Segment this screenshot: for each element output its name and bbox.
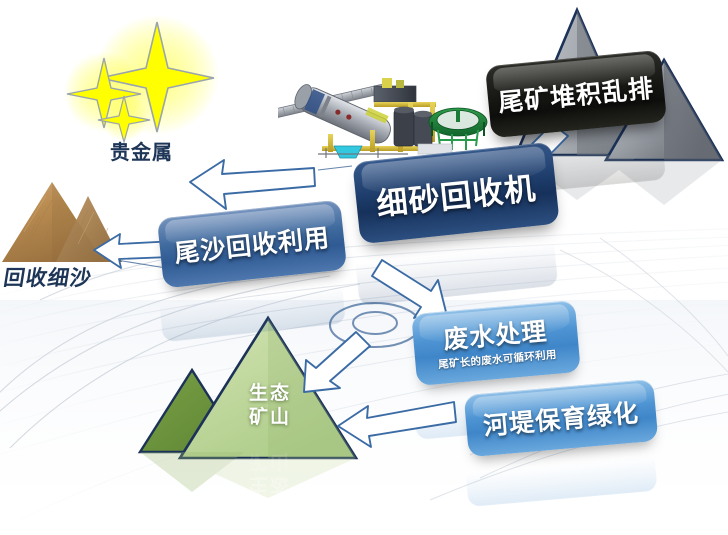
label-waste-water-treatment[interactable]: 废水处理 尾矿长的废水可循环利用 (411, 300, 581, 386)
eco-mountain-line2: 矿山 (228, 406, 312, 430)
label-tailings-dump-text: 尾矿堆积乱排 (497, 69, 656, 120)
label-levee-greening-text: 河堤保育绿化 (482, 393, 641, 442)
eco-mountain-label-reflection: 生态 矿山 (228, 449, 312, 497)
eco-mountain-line1-reflection: 生态 (228, 473, 312, 497)
label-tailings-reuse-text: 尾沙回收利用 (173, 218, 332, 270)
diagram-canvas: 尾矿堆积乱排 细砂回收机 尾沙回收利用 废水处理 尾矿长的废水可循环利用 河堤保… (0, 0, 728, 535)
arrow-icon (336, 392, 458, 450)
label-sand-recovery-machine-text: 细砂回收机 (374, 162, 538, 223)
eco-mountain-line2-reflection: 矿山 (228, 449, 312, 473)
